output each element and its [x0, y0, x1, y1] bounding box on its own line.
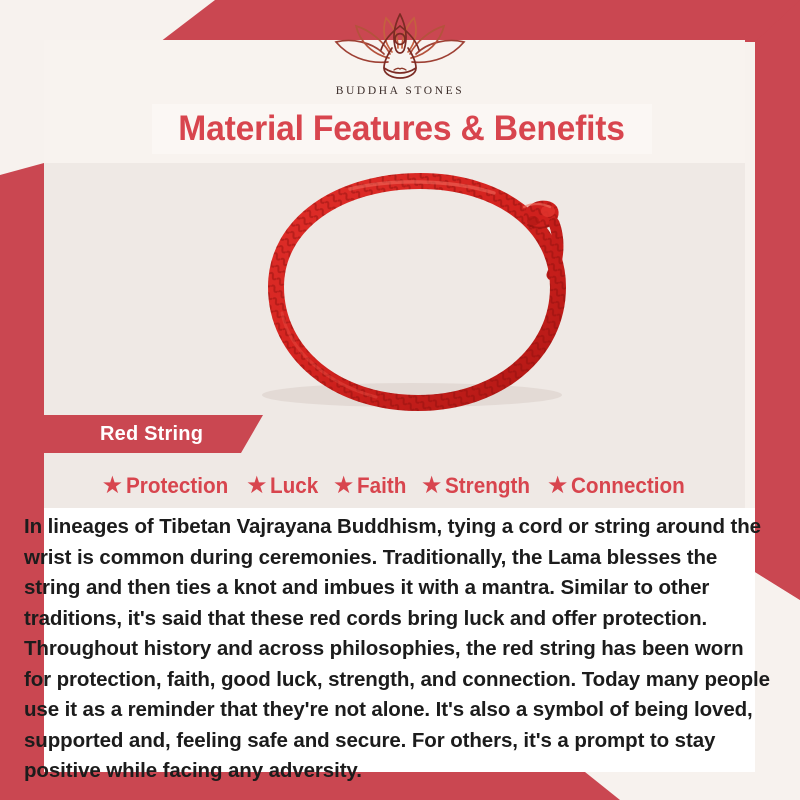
- infographic-canvas: BUDDHA STONES Material Features & Benefi…: [0, 0, 800, 800]
- benefit-label: Protection: [126, 473, 228, 499]
- brand-name: BUDDHA STONES: [336, 85, 464, 97]
- lotus-meditation-icon: [326, 12, 474, 84]
- benefit-item-faith: ★ Faith: [333, 473, 410, 499]
- star-icon: ★: [547, 474, 569, 498]
- star-icon: ★: [333, 474, 355, 498]
- benefit-item-connection: ★ Connection: [547, 473, 693, 499]
- product-label-banner: Red String: [28, 415, 263, 453]
- benefits-list: ★ Protection ★ Luck ★ Faith ★ Strength ★…: [44, 467, 750, 505]
- page-title: Material Features & Benefits: [179, 109, 626, 149]
- benefit-label: Connection: [571, 473, 685, 499]
- star-icon: ★: [246, 474, 268, 498]
- benefit-label: Faith: [357, 473, 406, 499]
- brand-logo: BUDDHA STONES: [0, 12, 800, 97]
- title-banner: Material Features & Benefits: [152, 104, 652, 154]
- description-text: In lineages of Tibetan Vajrayana Buddhis…: [24, 512, 772, 787]
- product-image: [150, 163, 680, 423]
- benefit-label: Luck: [270, 473, 318, 499]
- star-icon: ★: [102, 474, 124, 498]
- benefit-label: Strength: [445, 473, 530, 499]
- product-label: Red String: [100, 415, 203, 453]
- star-icon: ★: [421, 474, 443, 498]
- benefit-item-protection: ★ Protection: [102, 473, 235, 499]
- red-string-bracelet-illustration: [150, 163, 680, 423]
- benefit-item-luck: ★ Luck: [246, 473, 322, 499]
- benefit-item-strength: ★ Strength: [421, 473, 536, 499]
